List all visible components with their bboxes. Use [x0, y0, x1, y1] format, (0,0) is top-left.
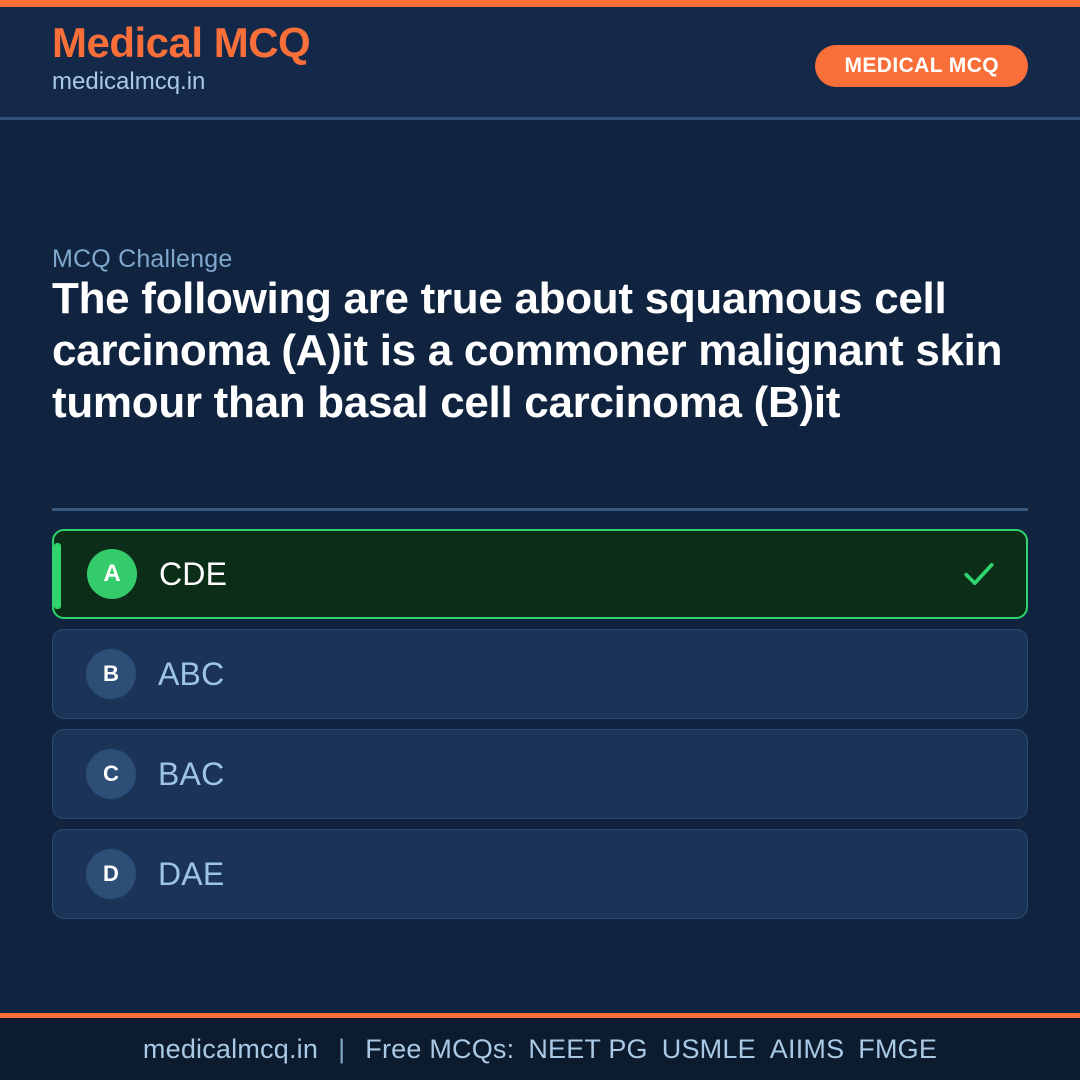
option-b[interactable]: B ABC	[52, 629, 1028, 719]
option-letter-badge: D	[86, 849, 136, 899]
option-a[interactable]: A CDE	[52, 529, 1028, 619]
check-icon	[962, 557, 996, 591]
option-c[interactable]: C BAC	[52, 729, 1028, 819]
page-footer: medicalmcq.in | Free MCQs: NEET PG USMLE…	[0, 1013, 1080, 1080]
eyebrow-label: MCQ Challenge	[52, 245, 232, 274]
option-label: CDE	[159, 556, 227, 593]
footer-exam-usmle[interactable]: USMLE	[662, 1034, 756, 1065]
page-header: Medical MCQ medicalmcq.in MEDICAL MCQ	[0, 7, 1080, 120]
option-letter-badge: C	[86, 749, 136, 799]
option-label: DAE	[158, 856, 224, 893]
footer-exam-neet-pg[interactable]: NEET PG	[528, 1034, 647, 1065]
footer-website[interactable]: medicalmcq.in	[143, 1034, 318, 1065]
question-text: The following are true about squamous ce…	[52, 273, 1037, 429]
brand-block: Medical MCQ medicalmcq.in	[52, 19, 310, 97]
footer-exam-fmge[interactable]: FMGE	[858, 1034, 937, 1065]
footer-content: medicalmcq.in | Free MCQs: NEET PG USMLE…	[143, 1034, 937, 1065]
option-label: ABC	[158, 656, 224, 693]
brand-website: medicalmcq.in	[52, 68, 310, 97]
correct-accent-bar	[54, 543, 61, 609]
header-badge[interactable]: MEDICAL MCQ	[815, 45, 1028, 87]
footer-label: Free MCQs:	[365, 1034, 514, 1065]
top-accent-bar	[0, 0, 1080, 7]
footer-exam-aiims[interactable]: AIIMS	[770, 1034, 845, 1065]
section-divider	[52, 508, 1028, 511]
options-list: A CDE B ABC C BAC D DAE	[52, 529, 1028, 929]
option-label: BAC	[158, 756, 224, 793]
option-d[interactable]: D DAE	[52, 829, 1028, 919]
footer-separator: |	[338, 1034, 345, 1065]
option-letter-badge: B	[86, 649, 136, 699]
main-content: MCQ Challenge The following are true abo…	[0, 123, 1080, 1013]
brand-title: Medical MCQ	[52, 19, 310, 66]
option-letter-badge: A	[87, 549, 137, 599]
